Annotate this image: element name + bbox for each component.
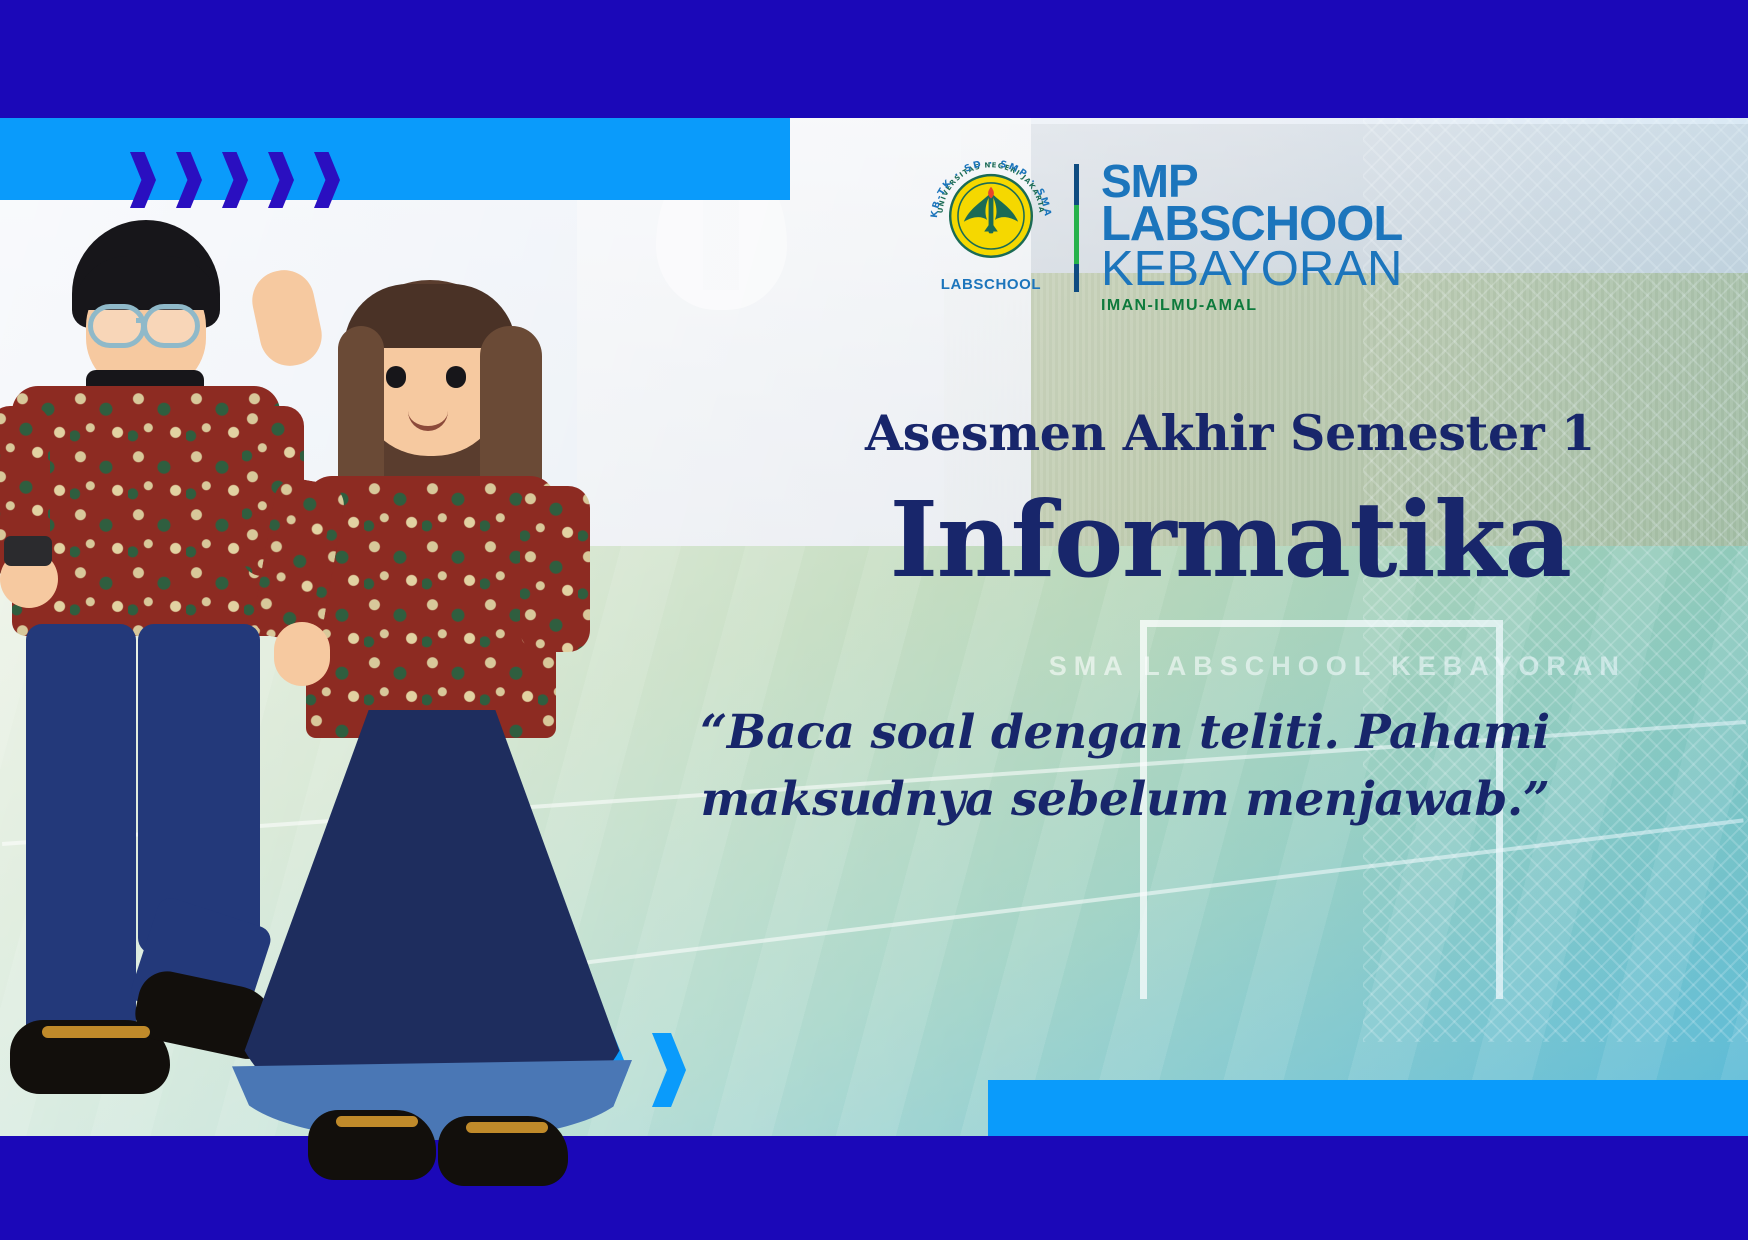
girl-left-hand [274, 622, 330, 686]
school-wordmark: SMP LABSCHOOL KEBAYORAN IMAN-ILMU-AMAL [1101, 160, 1402, 314]
girl-right-shoe-strap [466, 1122, 548, 1133]
assessment-subtitle: Asesmen Akhir Semester 1 [760, 404, 1700, 462]
subject-title: Informatika [760, 485, 1700, 594]
boy-watch [4, 536, 52, 566]
top-dark-blue-bar [0, 0, 1748, 118]
instruction-quote: “Baca soal dengan teliti. Pahami maksudn… [700, 700, 1550, 833]
girl-right-eye [446, 366, 466, 388]
boy-glasses-left [88, 304, 146, 348]
unj-seal: UNIVERSITAS NEGERI JAKARTA KB-TK · SD · … [937, 160, 1045, 268]
unj-seal-block: UNIVERSITAS NEGERI JAKARTA KB-TK · SD · … [930, 160, 1052, 293]
girl-batik-shirt [306, 476, 556, 738]
logo-divider [1074, 164, 1079, 292]
seal-arc-text-svg: KB-TK · SD · SMP · SMA [921, 142, 1061, 282]
poster-canvas: SMA LABSCHOOL KEBAYORAN [0, 0, 1748, 1240]
girl-left-shoe-strap [336, 1116, 418, 1127]
wordmark-smp: SMP [1101, 160, 1402, 202]
student-girl [240, 270, 640, 1170]
svg-text:KB-TK · SD · SMP · SMA: KB-TK · SD · SMP · SMA [929, 158, 1053, 219]
students-illustration [0, 190, 690, 1190]
girl-right-sleeve [520, 486, 590, 652]
wordmark-kebayoran: KEBAYORAN [1101, 247, 1402, 292]
school-logo-lockup: UNIVERSITAS NEGERI JAKARTA KB-TK · SD · … [930, 160, 1402, 314]
wordmark-tagline: IMAN-ILMU-AMAL [1101, 299, 1402, 314]
girl-waving-hand [247, 265, 328, 372]
boy-glasses-bridge [136, 318, 144, 323]
boy-glasses-right [142, 304, 200, 348]
girl-skirt-hem [232, 1060, 632, 1140]
boy-left-leg [26, 624, 136, 1044]
boy-shoe-strap [42, 1026, 150, 1038]
girl-left-eye [386, 366, 406, 388]
wordmark-labschool: LABSCHOOL [1101, 202, 1402, 247]
